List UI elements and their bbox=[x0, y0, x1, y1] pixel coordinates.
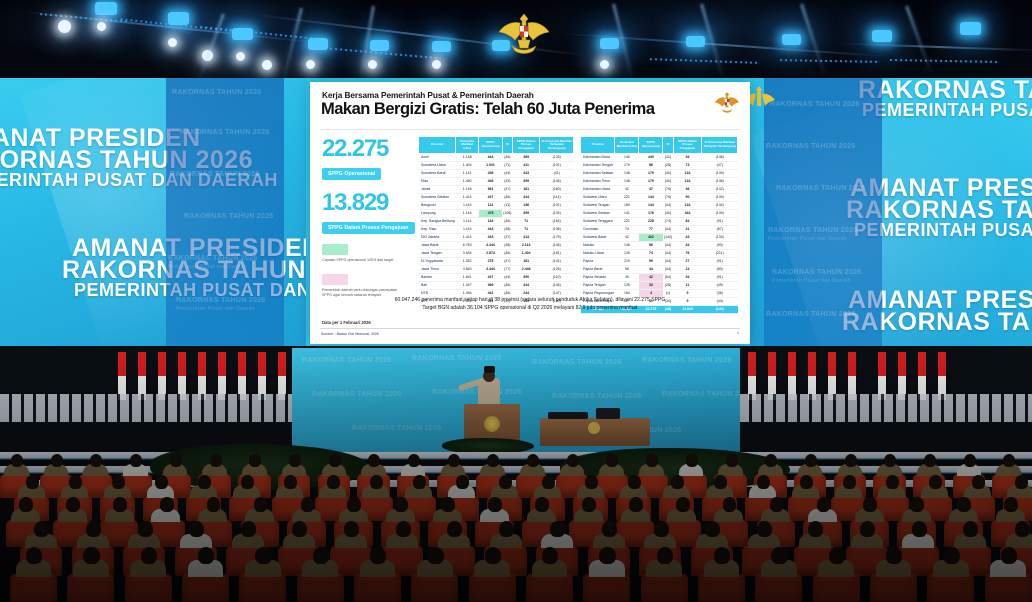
table-cell: 46 bbox=[673, 185, 702, 193]
audience-chair bbox=[297, 574, 344, 602]
desk-garuda-emblem bbox=[588, 422, 600, 434]
stage-light-blue bbox=[782, 34, 801, 45]
audience-person-head bbox=[714, 547, 730, 565]
table-cell: Gorontalo bbox=[581, 225, 615, 233]
stage-light-white bbox=[97, 22, 106, 31]
audience-person-head bbox=[800, 475, 813, 489]
table-cell: (44) bbox=[502, 169, 512, 177]
table-row: Banten1.641437(44)390(119) bbox=[419, 273, 574, 281]
audience-person-head bbox=[90, 454, 102, 467]
audience-person-head bbox=[207, 497, 221, 512]
table-row: DI Yogyakarta1.352278(47)181(141) bbox=[419, 257, 574, 265]
table-cell: (74) bbox=[663, 217, 673, 225]
audience-person-head bbox=[963, 521, 978, 537]
stage-screen-tile-text: RAKORNAS TAHUN 2026 bbox=[312, 390, 402, 399]
kpi-label-2: SPPG Dalam Proses Pengajuan bbox=[322, 222, 415, 234]
audience-person-head bbox=[241, 475, 254, 489]
table-cell: Sumatera Barat bbox=[419, 169, 456, 177]
audience-chair bbox=[411, 574, 458, 602]
audience-person-head bbox=[808, 521, 823, 537]
table-cell: (144) bbox=[702, 201, 738, 209]
table-cell: 176 bbox=[639, 209, 663, 217]
table-cell: 99 bbox=[639, 257, 663, 265]
table-cell: 361 bbox=[479, 185, 503, 193]
audience-chair bbox=[870, 574, 917, 602]
table-cell: 148 bbox=[615, 177, 639, 185]
table-cell: (101) bbox=[540, 161, 574, 169]
stage-light-blue bbox=[308, 38, 328, 50]
table-column-header: % Penerima Manfaat Terlayani Tertampung bbox=[702, 137, 738, 154]
table-cell: Sulawesi Tenggara bbox=[581, 217, 615, 225]
wall-tile-text: RAKORNAS TAHUN 2026 bbox=[180, 128, 270, 137]
audience-person-head bbox=[441, 497, 455, 512]
audience-person-head bbox=[69, 475, 82, 489]
audience-person-head bbox=[130, 454, 142, 467]
table-cell: 74 bbox=[615, 225, 639, 233]
table-cell: 433 bbox=[479, 233, 503, 241]
table-row: Sumatera Utara1.4041.001(71)411(101) bbox=[419, 161, 574, 169]
table-row: Maluku14686(44)44(90) bbox=[581, 241, 738, 249]
audience-person-head bbox=[485, 547, 501, 565]
table-cell: (44) bbox=[663, 265, 673, 273]
table-row: Gorontalo7477(44)41(87) bbox=[581, 225, 738, 233]
stage-light-white bbox=[168, 38, 177, 47]
audience-person-head bbox=[26, 475, 39, 489]
table-cell: Kalimantan Timur bbox=[581, 177, 615, 185]
stage-screen-tile-text: RAKORNAS TAHUN 2026 bbox=[352, 424, 442, 433]
audience-person-head bbox=[368, 454, 380, 467]
table-cell: Jawa Barat bbox=[419, 241, 456, 249]
wall-tile-text: RAKORNAS TAHUN 2026 bbox=[766, 310, 856, 319]
table-cell: 478 bbox=[479, 209, 503, 217]
table-cell: (133) bbox=[540, 153, 574, 161]
table-cell: (44) bbox=[663, 241, 673, 249]
stage-light-white bbox=[306, 60, 315, 69]
audience-person-head bbox=[141, 547, 157, 565]
audience-person-head bbox=[585, 475, 598, 489]
slide-divider bbox=[320, 129, 740, 130]
stage-light-blue bbox=[370, 40, 389, 51]
audience-chair bbox=[469, 574, 516, 602]
kpi-block-2: 13.829 SPPG Dalam Proses Pengajuan bbox=[322, 190, 415, 234]
table-cell: 1.146 bbox=[456, 185, 479, 193]
table-cell: (146) bbox=[540, 177, 574, 185]
table-cell: 144 bbox=[639, 193, 663, 201]
table-cell: 42 bbox=[639, 273, 663, 281]
audience-person-head bbox=[886, 475, 899, 489]
audience-person-head bbox=[394, 497, 408, 512]
table-cell: (126) bbox=[540, 265, 574, 273]
table-cell: (175) bbox=[540, 233, 574, 241]
audience-person-head bbox=[567, 454, 579, 467]
audience-chair bbox=[239, 574, 286, 602]
table-cell: 148 bbox=[615, 169, 639, 177]
audience-person-head bbox=[370, 475, 383, 489]
audience-person-head bbox=[19, 497, 33, 512]
table-cell: (149) bbox=[702, 169, 738, 177]
wall-tile-text: RAKORNAS TAHUN 2026 bbox=[772, 268, 862, 277]
table-cell: 179 bbox=[615, 161, 639, 169]
table-row: Sumatera Barat1.141436(44)443(41) bbox=[419, 169, 574, 177]
audience-chair bbox=[10, 574, 57, 602]
table-cell: Kalimantan Selatan bbox=[581, 169, 615, 177]
garuda-pancasila-emblem bbox=[496, 8, 552, 56]
audience-person-head bbox=[657, 547, 673, 565]
audience-person-head bbox=[427, 547, 443, 565]
table-cell: (47) bbox=[502, 185, 512, 193]
audience-person-head bbox=[241, 521, 256, 537]
table-row: Sumatera Selatan1.414437(46)444(114) bbox=[419, 193, 574, 201]
audience-person-head bbox=[66, 497, 80, 512]
stage-light-blue bbox=[960, 22, 981, 35]
table-cell: (101) bbox=[540, 201, 574, 209]
table-cell: 1.404 bbox=[456, 161, 479, 169]
audience-person-head bbox=[628, 475, 641, 489]
table-cell: (76) bbox=[663, 193, 673, 201]
stage-screen-tile-text: RAKORNAS TAHUN 2026 bbox=[532, 358, 622, 367]
audience-person-head bbox=[170, 454, 182, 467]
table-cell: (46) bbox=[502, 249, 512, 257]
table-cell: (40) bbox=[663, 169, 673, 177]
table-cell: 366 bbox=[479, 281, 503, 289]
kpi-number-1: 22.275 bbox=[322, 136, 388, 162]
audience-person-head bbox=[929, 475, 942, 489]
table-cell: (90) bbox=[702, 241, 738, 249]
table-cell: 86 bbox=[639, 161, 663, 169]
garuda-pancasila-emblem bbox=[750, 82, 776, 116]
audience-chair bbox=[67, 574, 114, 602]
table-cell: (149) bbox=[702, 209, 738, 217]
legend-item-pink: Pemerintah daerah perlu dukungan percepa… bbox=[322, 274, 406, 298]
legend-text-green: Capaian SPPG operasional 100% dari targe… bbox=[322, 258, 406, 263]
audience-person-head bbox=[964, 454, 976, 467]
wall-tile-text: RAKORNAS TAHUN 2026 bbox=[172, 88, 262, 97]
audience-person-head bbox=[254, 497, 268, 512]
wall-tile-text: RAKORNAS TAHUN 2026 bbox=[184, 212, 274, 221]
table-cell: 399 bbox=[512, 177, 539, 185]
table-row: Papua Barat9644(44)14(80) bbox=[581, 265, 738, 273]
table-cell: (46) bbox=[502, 217, 512, 225]
audience-person-head bbox=[686, 454, 698, 467]
audience-person-head bbox=[671, 475, 684, 489]
audience-chair bbox=[813, 574, 860, 602]
table-cell: (119) bbox=[540, 273, 574, 281]
table-body: Aceh1.148444(46)369(133)Sumatera Utara1.… bbox=[419, 153, 574, 305]
slide-footnote: 60.047.246 penerima manfaat setiap hari … bbox=[326, 296, 734, 312]
table-row: Riau1.460446(33)399(146) bbox=[419, 177, 574, 185]
audience-person-head bbox=[456, 475, 469, 489]
table-cell: DI Yogyakarta bbox=[419, 257, 456, 265]
wall-tile-subtext: Pemerintah Pusat dan Daerah bbox=[176, 305, 255, 314]
table-cell: Sumatera Selatan bbox=[419, 193, 456, 201]
table-cell: (211) bbox=[702, 249, 738, 257]
wall-tile-text: RAKORNAS TAHUN 2026 bbox=[170, 170, 260, 179]
audience-chair bbox=[755, 574, 802, 602]
table-row: Kep. Riau1.119444(48)71(136) bbox=[419, 225, 574, 233]
table-cell: (164) bbox=[540, 217, 574, 225]
audience-person-head bbox=[11, 454, 23, 467]
table-cell: Riau bbox=[419, 177, 456, 185]
wall-tile-subtext: Pemerintah Pusat dan Daerah bbox=[168, 263, 247, 272]
legend-date: Data per 1 Februari 2026 bbox=[322, 320, 371, 325]
table-cell: Sumatera Utara bbox=[419, 161, 456, 169]
table-cell: (77) bbox=[502, 265, 512, 273]
table-cell: (49) bbox=[702, 281, 738, 289]
table-row: Kalimantan Barat140440(41)94(146) bbox=[581, 153, 738, 161]
audience-person-head bbox=[863, 497, 877, 512]
table-cell: (54) bbox=[663, 273, 673, 281]
table-cell: (44) bbox=[502, 273, 512, 281]
table-header-row: ProvinsiPenerima Manfaat (ribu)SPPG Oper… bbox=[419, 137, 574, 154]
audience-person-head bbox=[714, 475, 727, 489]
table-cell: 144 bbox=[673, 177, 702, 185]
table-cell: 278 bbox=[479, 257, 503, 265]
wall-tile-subtext: Pemerintah Pusat dan Daerah bbox=[768, 235, 847, 244]
audience-person-head bbox=[408, 454, 420, 467]
audience-person-head bbox=[765, 454, 777, 467]
wall-tile-text: RAKORNAS TAHUN 2026 bbox=[176, 296, 266, 305]
table-row: Sulawesi Selatan141176(40)444(149) bbox=[581, 209, 738, 217]
table-cell: (91) bbox=[702, 217, 738, 225]
table-cell: (108) bbox=[502, 209, 512, 217]
stage-light-blue bbox=[600, 38, 619, 49]
table-row: Kalimantan Utara4247(76)46(142) bbox=[581, 185, 738, 193]
table-cell: (87) bbox=[702, 225, 738, 233]
table-cell: Kep. Riau bbox=[419, 225, 456, 233]
table-cell: 11 bbox=[673, 281, 702, 289]
auditorium: RAKORNAS TAHUN 2026 RAKORNAS TAHUN 2026 … bbox=[0, 346, 1032, 602]
audience-person-head bbox=[51, 454, 63, 467]
audience-person-head bbox=[646, 454, 658, 467]
slide-page-number: 8 bbox=[737, 331, 739, 335]
audience-person-head bbox=[1001, 547, 1017, 565]
presentation-slide: Kerja Bersama Pemerintah Pusat & Pemerin… bbox=[310, 82, 750, 344]
table-cell: 2.114 bbox=[512, 241, 539, 249]
stage-light-blue bbox=[95, 2, 117, 15]
audience-person-head bbox=[654, 521, 669, 537]
audience-person-head bbox=[535, 497, 549, 512]
slide-title: Makan Bergizi Gratis: Telah 60 Juta Pene… bbox=[321, 100, 655, 119]
stage-light-white bbox=[236, 52, 245, 61]
table-cell: 390 bbox=[512, 273, 539, 281]
table-cell: (136) bbox=[540, 225, 574, 233]
table-cell: (41) bbox=[663, 153, 673, 161]
table-column-header: Penerima Manfaat (ribu) bbox=[456, 137, 479, 154]
audience-person-head bbox=[86, 521, 101, 537]
delegates-seated-left bbox=[0, 394, 292, 424]
audience-person-head bbox=[886, 547, 902, 565]
table-cell: Sulawesi Selatan bbox=[581, 209, 615, 217]
table-cell: 1.114 bbox=[456, 217, 479, 225]
table-cell: Bali bbox=[419, 281, 456, 289]
table-cell: 221 bbox=[615, 193, 639, 201]
table-cell: 1.148 bbox=[456, 153, 479, 161]
audience-person-head bbox=[606, 454, 618, 467]
stage-light-blue bbox=[232, 28, 253, 40]
table-cell: 161 bbox=[512, 185, 539, 193]
audience-person-head bbox=[542, 475, 555, 489]
stage-light-white bbox=[262, 60, 272, 70]
table-cell: 179 bbox=[639, 177, 663, 185]
table-cell: Sulawesi Barat bbox=[581, 233, 615, 241]
table-cell: 437 bbox=[479, 273, 503, 281]
table-cell: (44) bbox=[663, 201, 673, 209]
table-cell: 1.119 bbox=[456, 201, 479, 209]
table-cell: 44 bbox=[639, 265, 663, 273]
table-cell: 77 bbox=[639, 225, 663, 233]
audience-person-head bbox=[301, 497, 315, 512]
table-cell: Kalimantan Barat bbox=[581, 153, 615, 161]
table-cell: 86 bbox=[639, 241, 663, 249]
table-cell: 141 bbox=[615, 209, 639, 217]
table-row: Papua21999(44)27(91) bbox=[581, 257, 738, 265]
table-row: Kalimantan Selatan148179(40)144(149) bbox=[581, 169, 738, 177]
table-cell: Banten bbox=[419, 273, 456, 281]
table-cell: 444 bbox=[512, 193, 539, 201]
stage-light-white bbox=[432, 60, 441, 69]
table-cell: 179 bbox=[639, 169, 663, 177]
table-cell: (48) bbox=[502, 241, 512, 249]
table-cell: 94 bbox=[673, 153, 702, 161]
wall-tile-subtext: Pemerintah Pusat dan Daerah bbox=[772, 277, 851, 286]
table-cell: 444 bbox=[512, 281, 539, 289]
wall-tile-text: RAKORNAS TAHUN 2026 bbox=[776, 184, 866, 193]
table-column-header: Penerima Manfaat (ribu) bbox=[615, 137, 639, 154]
audience-person-head bbox=[249, 454, 261, 467]
delegate-table-right bbox=[740, 422, 1032, 444]
table-cell: (40) bbox=[663, 209, 673, 217]
footnote-line-2: Target BGN adalah 36.104 SPPG operasiona… bbox=[326, 304, 734, 312]
table-cell: 219 bbox=[615, 257, 639, 265]
table-cell: 402 bbox=[639, 233, 663, 241]
table-cell: Aceh bbox=[419, 153, 456, 161]
table-cell: 71 bbox=[512, 217, 539, 225]
audience-person-head bbox=[313, 547, 329, 565]
audience-person-head bbox=[771, 547, 787, 565]
garuda-pancasila-emblem bbox=[714, 90, 740, 116]
table-cell: 43 bbox=[673, 233, 702, 241]
table-cell: 1.447 bbox=[456, 281, 479, 289]
table-cell: 1.460 bbox=[456, 177, 479, 185]
table-cell: 144 bbox=[479, 217, 503, 225]
table-cell: (47) bbox=[502, 257, 512, 265]
audience-person-head bbox=[1015, 475, 1028, 489]
stage-light-blue bbox=[686, 36, 705, 47]
audience-person-head bbox=[344, 521, 359, 537]
audience-person-head bbox=[487, 454, 499, 467]
table-cell: Jawa Timur bbox=[419, 265, 456, 273]
table-cell: Kalimantan Utara bbox=[581, 185, 615, 193]
table-cell: 411 bbox=[512, 161, 539, 169]
audience-person-head bbox=[210, 454, 222, 467]
table-row: Sulawesi Barat42402(140)43(133) bbox=[581, 233, 738, 241]
audience-chair bbox=[354, 574, 401, 602]
wall-tile-text: RAKORNAS TAHUN 2026 bbox=[168, 254, 258, 263]
table-row: Bengkulu1.119114(11)136(101) bbox=[419, 201, 574, 209]
audience-person-head bbox=[757, 521, 772, 537]
audience-person-head bbox=[255, 547, 271, 565]
table-row: Jawa Tengah3.5342.874(46)1.404(181) bbox=[419, 249, 574, 257]
table-cell: (44) bbox=[663, 225, 673, 233]
table-cell: 1.404 bbox=[512, 249, 539, 257]
table-cell: (76) bbox=[663, 185, 673, 193]
stage-light-blue bbox=[168, 12, 189, 25]
audience-person-head bbox=[189, 521, 204, 537]
table-cell: 144 bbox=[639, 201, 663, 209]
table-row: Sulawesi Tenggara221228(74)84(91) bbox=[581, 217, 738, 225]
audience-person-head bbox=[112, 475, 125, 489]
table-cell: (33) bbox=[502, 177, 512, 185]
audience-person-head bbox=[705, 521, 720, 537]
audience-person-head bbox=[805, 454, 817, 467]
audience-person-head bbox=[499, 475, 512, 489]
table-cell: 44 bbox=[673, 241, 702, 249]
table-cell: (28) bbox=[663, 281, 673, 289]
audience-chair bbox=[526, 574, 573, 602]
kpi-block-1: 22.275 SPPG Operasional bbox=[322, 136, 388, 180]
audience-person-head bbox=[155, 475, 168, 489]
stage-screen-tile-text: RAKORNAS TAHUN 2026 bbox=[432, 388, 522, 397]
ceiling-lighting-rig bbox=[0, 0, 1032, 78]
table-row: Maluku Utara12674(44)76(211) bbox=[581, 249, 738, 257]
wall-tile-text: RAKORNAS TAHUN 2026 bbox=[768, 226, 858, 235]
table-cell: (114) bbox=[540, 193, 574, 201]
table-row: DKI Jakarta1.414433(37)414(175) bbox=[419, 233, 574, 241]
table-cell: (160) bbox=[540, 185, 574, 193]
table-cell: DKI Jakarta bbox=[419, 233, 456, 241]
audience-person-head bbox=[396, 521, 411, 537]
table-cell: Maluku Utara bbox=[581, 249, 615, 257]
audience-person-head bbox=[527, 454, 539, 467]
table-cell: 399 bbox=[512, 209, 539, 217]
table-cell: (181) bbox=[540, 249, 574, 257]
audience-person-head bbox=[327, 475, 340, 489]
desk-monitor bbox=[596, 408, 620, 419]
table-cell: (142) bbox=[702, 185, 738, 193]
table-cell: 14 bbox=[673, 265, 702, 273]
table-cell: 1.414 bbox=[456, 193, 479, 201]
table-cell: Papua Barat bbox=[581, 265, 615, 273]
table-row: Sulawesi Utara221144(76)90(149) bbox=[581, 193, 738, 201]
table-cell: (91) bbox=[702, 257, 738, 265]
audience-person-head bbox=[924, 454, 936, 467]
audience-person-head bbox=[448, 454, 460, 467]
audience-person-head bbox=[817, 497, 831, 512]
table-column-header: SPPG Dalam Proses Pengajuan bbox=[673, 137, 702, 154]
audience-person-head bbox=[447, 521, 462, 537]
audience-person-head bbox=[757, 475, 770, 489]
audience-person-head bbox=[770, 497, 784, 512]
delegates-seated-right bbox=[740, 394, 1032, 424]
audience-person-head bbox=[542, 547, 558, 565]
stage-screen-tile-text: RAKORNAS TAHUN 2026 bbox=[302, 356, 392, 365]
conference-hall-photo: AMANAT PRESIDEN RAKORNAS TAHUN 2026 PEME… bbox=[0, 0, 1032, 602]
table-column-header: % bbox=[663, 137, 673, 154]
table-cell: (146) bbox=[540, 281, 574, 289]
table-cell: 2.874 bbox=[479, 249, 503, 257]
province-table-left: ProvinsiPenerima Manfaat (ribu)SPPG Oper… bbox=[418, 136, 574, 306]
table-cell: (41) bbox=[540, 169, 574, 177]
audience-person-head bbox=[34, 521, 49, 537]
table-cell: 3.444 bbox=[479, 265, 503, 273]
table-cell: 4.444 bbox=[479, 241, 503, 249]
table-cell: (80) bbox=[702, 265, 738, 273]
table-cell: 440 bbox=[639, 153, 663, 161]
table-cell: 1.119 bbox=[456, 225, 479, 233]
province-table-right: ProvinsiPenerima Manfaat (ribu)SPPG Oper… bbox=[580, 136, 738, 314]
table-cell: 71 bbox=[512, 225, 539, 233]
peci-hat bbox=[484, 366, 495, 373]
